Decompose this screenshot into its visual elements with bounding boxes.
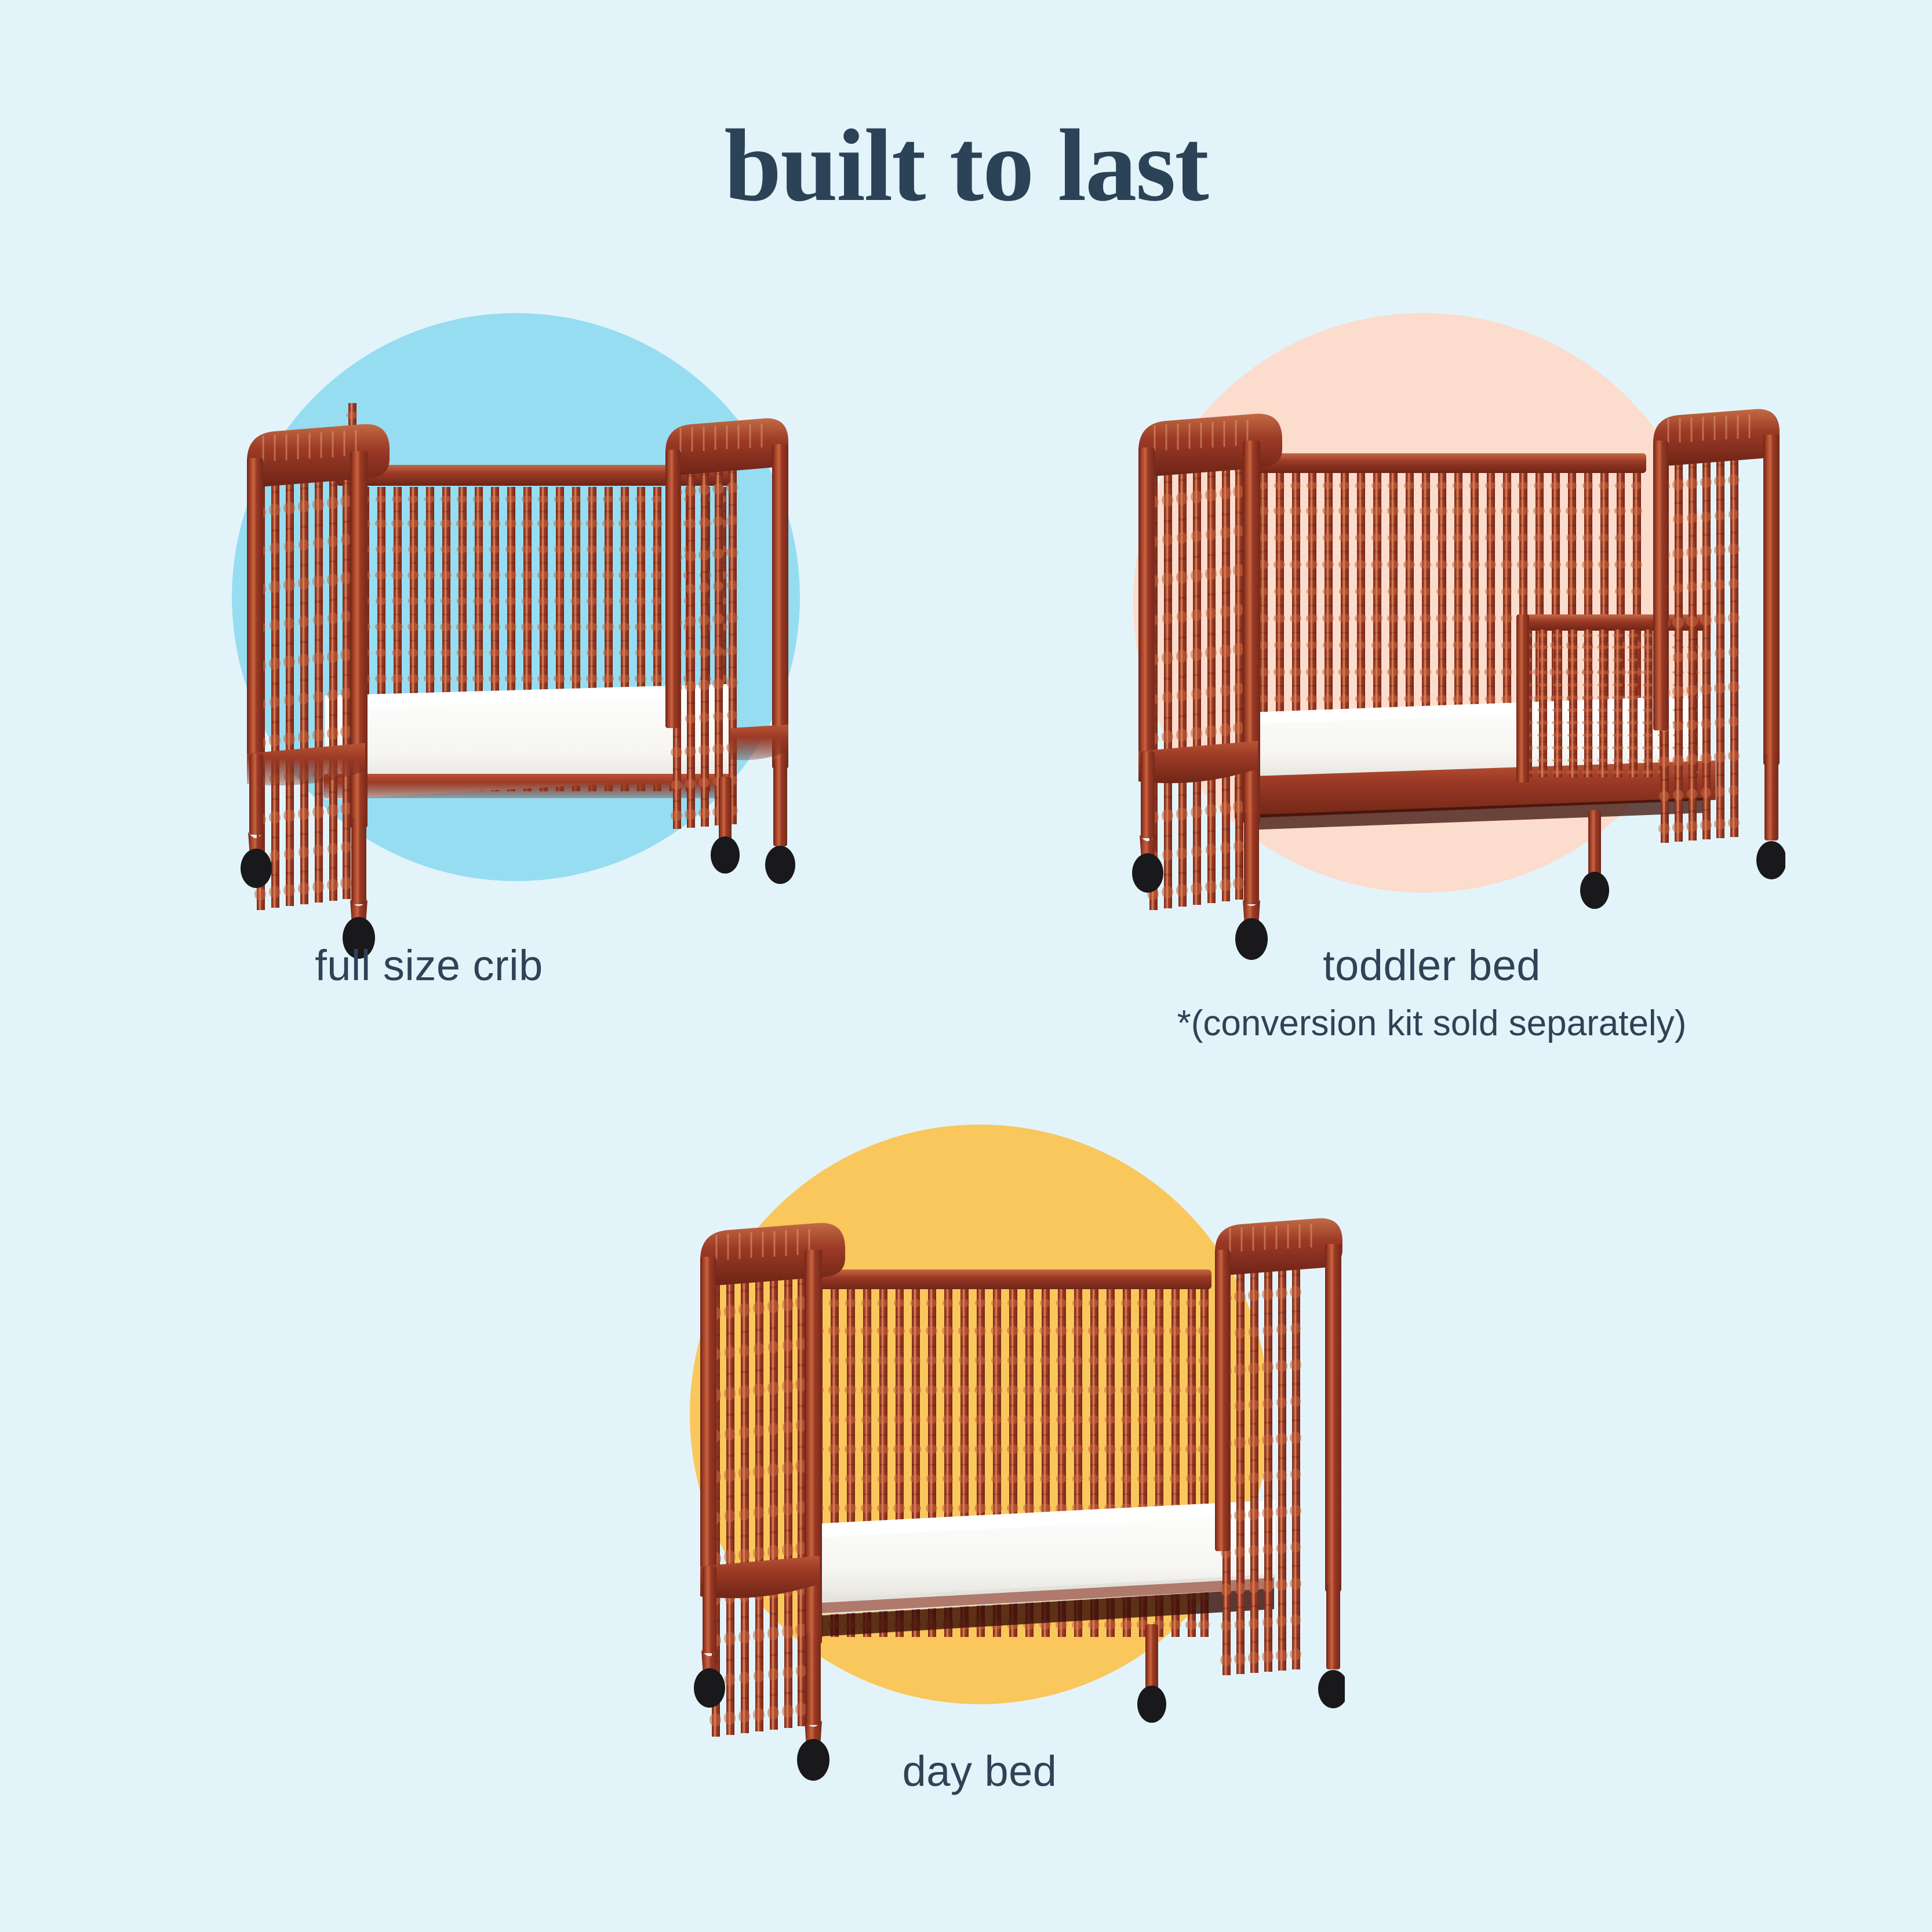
caster-wheel (711, 836, 740, 874)
caption-toddler-bed: toddler bed *(conversion kit sold separa… (1020, 939, 1843, 1046)
caption-label: day bed (903, 1747, 1057, 1795)
product-panel-full-size-crib (191, 313, 841, 997)
caption-subtext: *(conversion kit sold separately) (1020, 1001, 1843, 1046)
caster-wheel (694, 1668, 725, 1708)
caster-wheel (1318, 1670, 1345, 1708)
caption-full-size-crib: full size crib (0, 939, 858, 993)
caster-wheel (1580, 872, 1609, 909)
caption-label: full size crib (315, 941, 543, 989)
product-panel-day-bed (620, 1125, 1345, 1809)
caster-wheel (241, 849, 272, 888)
crib-illustration-day-bed (620, 1125, 1345, 1809)
caption-day-bed: day bed (580, 1745, 1380, 1799)
caster-wheel (765, 846, 795, 884)
full-size-crib-svg (191, 313, 841, 997)
toddler-bed-svg (1061, 313, 1785, 997)
crib-lower-rail (323, 774, 733, 798)
caster-wheel (1132, 853, 1163, 893)
infographic-page: built to last (0, 0, 1932, 1932)
day-bed-svg (620, 1125, 1345, 1809)
page-title: built to last (0, 114, 1932, 217)
crib-illustration-full-size-crib (191, 313, 841, 997)
caption-label: toddler bed (1323, 941, 1541, 989)
product-panel-toddler-bed (1061, 313, 1785, 997)
caster-wheel (1137, 1686, 1166, 1723)
crib-illustration-toddler-bed (1061, 313, 1785, 997)
caster-wheel (1756, 841, 1785, 879)
